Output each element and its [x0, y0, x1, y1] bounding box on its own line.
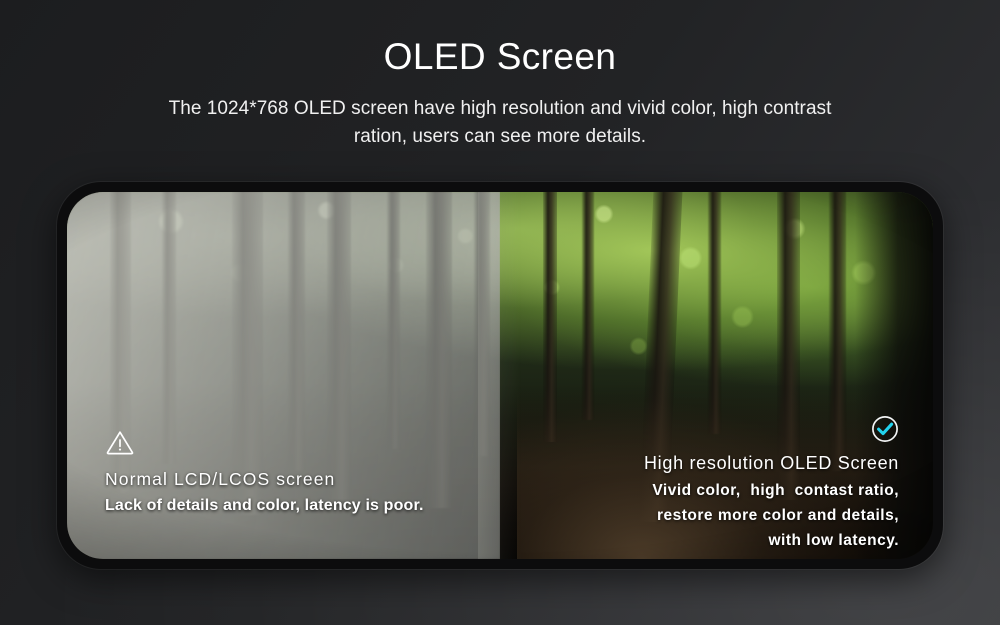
promo-page: OLED Screen The 1024*768 OLED screen hav…	[0, 0, 1000, 625]
device-screen: Normal LCD/LCOS screen Lack of details a…	[67, 192, 933, 559]
device-frame: Normal LCD/LCOS screen Lack of details a…	[57, 182, 943, 569]
caption-oled: High resolution OLED Screen Vivid color,…	[644, 415, 899, 553]
header-block: OLED Screen The 1024*768 OLED screen hav…	[0, 0, 1000, 151]
warning-triangle-icon	[105, 429, 424, 461]
caption-oled-line-2: restore more color and details,	[644, 503, 899, 528]
caption-oled-line-3: with low latency.	[644, 528, 899, 553]
caption-oled-line-1: Vivid color, high contast ratio,	[644, 478, 899, 503]
page-title: OLED Screen	[0, 36, 1000, 79]
check-circle-icon	[644, 415, 899, 448]
page-subtitle: The 1024*768 OLED screen have high resol…	[150, 95, 850, 151]
caption-oled-title: High resolution OLED Screen	[644, 450, 899, 478]
caption-lcd-line-1: Lack of details and color, latency is po…	[105, 493, 424, 519]
caption-lcd-title: Normal LCD/LCOS screen	[105, 466, 424, 493]
caption-lcd: Normal LCD/LCOS screen Lack of details a…	[105, 429, 424, 519]
